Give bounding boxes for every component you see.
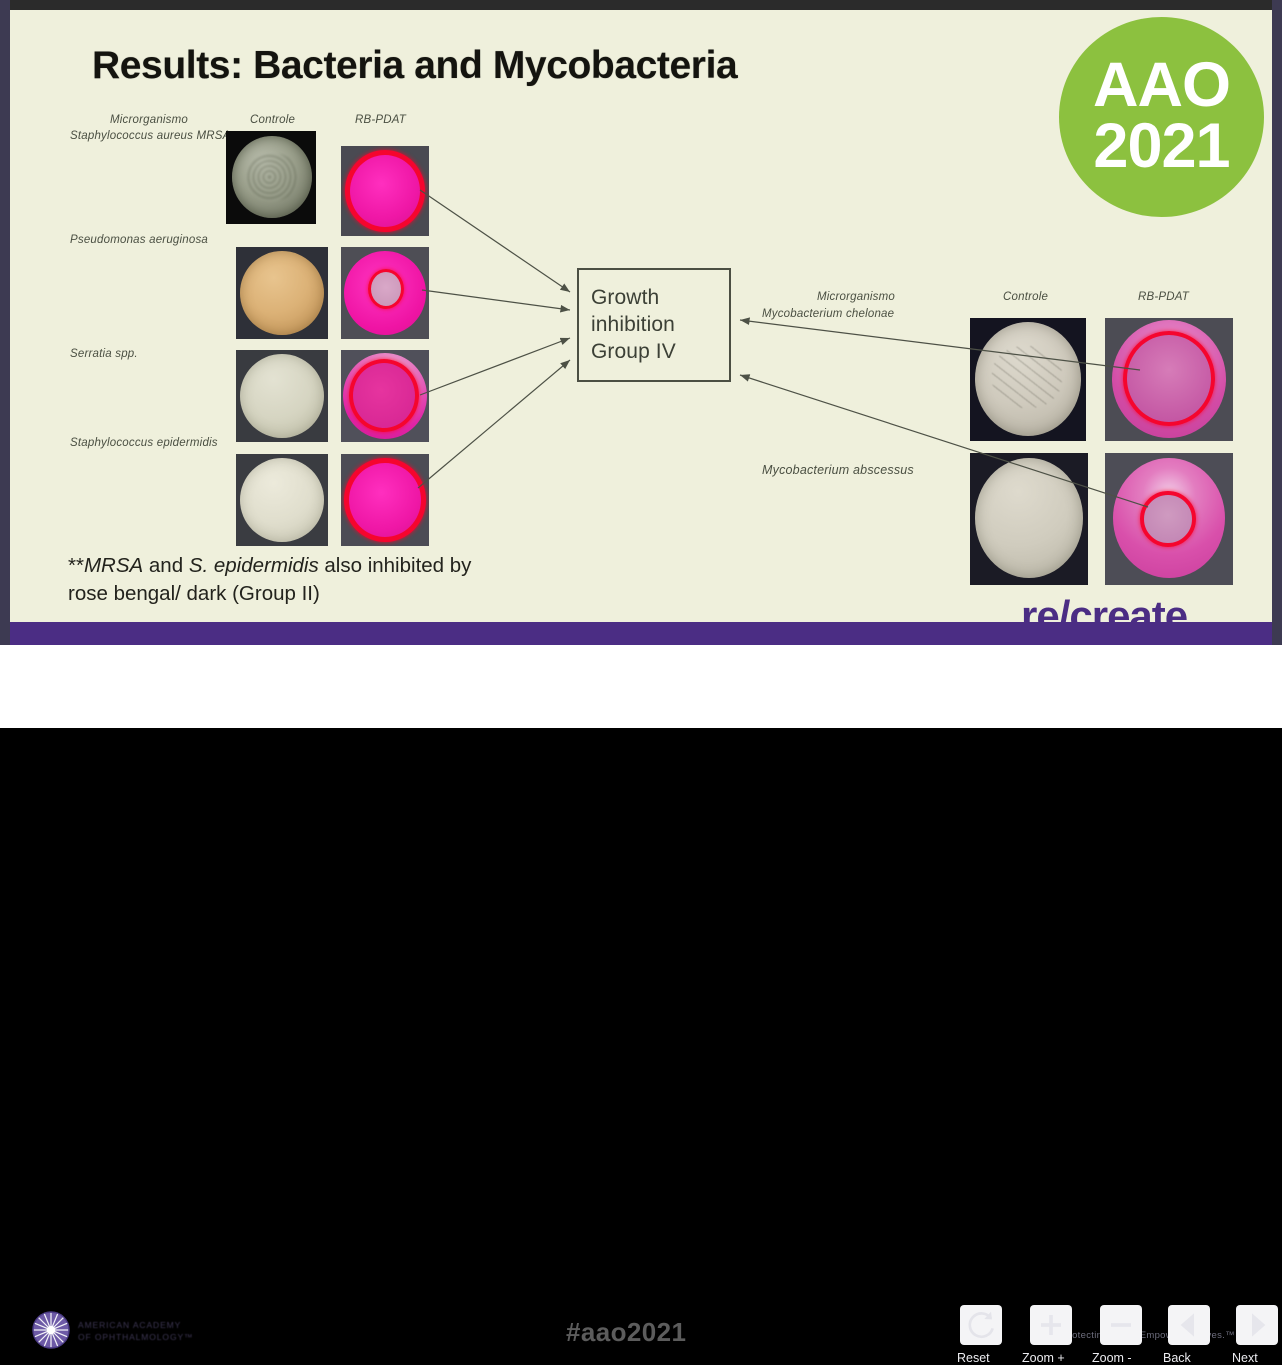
left-header-organism: Microrganismo	[110, 114, 188, 126]
left-row4-organism: Staphylococcus epidermidis	[70, 437, 218, 449]
zoom-in-label: Zoom +	[1022, 1351, 1065, 1365]
plate-image-serratia-control	[236, 350, 328, 442]
zoom-in-icon	[1030, 1305, 1072, 1345]
reset-icon	[960, 1305, 1002, 1345]
growth-inhibition-text: Growth inhibition Group IV	[591, 284, 676, 365]
plate-image-sepidermidis-rbpdat	[341, 454, 429, 546]
footnote-prefix: **	[68, 554, 84, 577]
footnote-italic-mrsa: MRSA	[84, 554, 143, 577]
academy-line-2: OF OPHTHALMOLOGY™	[78, 1331, 193, 1343]
left-row2-organism: Pseudomonas aeruginosa	[70, 234, 208, 246]
plate-image-abscessus-control	[970, 453, 1088, 585]
plate-image-abscessus-rbpdat	[1105, 453, 1233, 585]
right-header-organism: Microrganismo	[817, 291, 895, 303]
next-icon	[1236, 1305, 1278, 1345]
academy-line-1: AMERICAN ACADEMY	[78, 1319, 193, 1331]
left-row1-organism: Staphylococcus aureus MRSA	[70, 130, 231, 142]
left-header-control: Controle	[250, 114, 295, 126]
plate-image-pseudomonas-control	[236, 247, 328, 339]
academy-wordmark: AMERICAN ACADEMY OF OPHTHALMOLOGY™	[78, 1319, 193, 1343]
footnote-line-1: **MRSA and S. epidermidis also inhibited…	[68, 552, 588, 580]
growth-inhibition-line2: inhibition	[591, 311, 676, 338]
plate-image-sepidermidis-control	[236, 454, 328, 546]
growth-inhibition-line3: Group IV	[591, 338, 676, 365]
aao-2021-badge: AAO 2021	[1059, 17, 1264, 217]
slide-bottom-bar	[10, 622, 1272, 645]
right-header-control: Controle	[1003, 291, 1048, 303]
plate-image-serratia-rbpdat	[341, 350, 429, 442]
zoom-out-icon	[1100, 1305, 1142, 1345]
back-icon	[1168, 1305, 1210, 1345]
next-button[interactable]	[1236, 1305, 1278, 1345]
footnote-italic-sepidermidis: S. epidermidis	[189, 554, 319, 577]
growth-inhibition-box: Growth inhibition Group IV	[577, 268, 731, 382]
plate-image-pseudomonas-rbpdat	[341, 247, 429, 339]
slide-title: Results: Bacteria and Mycobacteria	[92, 44, 737, 88]
right-row1-organism: Mycobacterium chelonae	[762, 308, 894, 320]
reset-button[interactable]	[960, 1305, 1002, 1345]
footnote-line-2: rose bengal/ dark (Group II)	[68, 580, 588, 608]
next-label: Next	[1232, 1351, 1258, 1365]
zoom-out-label: Zoom -	[1092, 1351, 1132, 1365]
player-footer: AMERICAN ACADEMY OF OPHTHALMOLOGY™ #aao2…	[0, 645, 1282, 728]
growth-inhibition-line1: Growth	[591, 284, 676, 311]
plate-image-mrsa-control	[226, 131, 316, 224]
zoom-out-button[interactable]	[1100, 1305, 1142, 1345]
left-row3-organism: Serratia spp.	[70, 348, 138, 360]
letterbox-top	[0, 0, 1282, 10]
presentation-viewer: Results: Bacteria and Mycobacteria AAO 2…	[0, 0, 1282, 728]
back-label: Back	[1163, 1351, 1191, 1365]
aao-badge-line1: AAO	[1093, 56, 1230, 116]
plate-image-chelonae-rbpdat	[1105, 318, 1233, 441]
recreate-logo: re/create	[1021, 592, 1187, 622]
letterbox-right	[1272, 0, 1282, 645]
right-header-treatment: RB-PDAT	[1138, 291, 1189, 303]
left-header-treatment: RB-PDAT	[355, 114, 406, 126]
slide-canvas: Results: Bacteria and Mycobacteria AAO 2…	[10, 10, 1272, 622]
slide-footnote: **MRSA and S. epidermidis also inhibited…	[68, 552, 588, 608]
plate-image-chelonae-control	[970, 318, 1086, 441]
aao-badge-line2: 2021	[1093, 115, 1229, 178]
back-button[interactable]	[1168, 1305, 1210, 1345]
reset-label: Reset	[957, 1351, 990, 1365]
zoom-in-button[interactable]	[1030, 1305, 1072, 1345]
event-hashtag: #aao2021	[566, 1317, 686, 1348]
aao-starburst-icon	[32, 1311, 70, 1349]
letterbox-left	[0, 0, 10, 645]
plate-image-mrsa-rbpdat	[341, 146, 429, 236]
footnote-mid-1: and	[143, 554, 189, 577]
footnote-mid-2: also inhibited by	[319, 554, 472, 577]
right-row2-organism: Mycobacterium abscessus	[762, 463, 914, 477]
